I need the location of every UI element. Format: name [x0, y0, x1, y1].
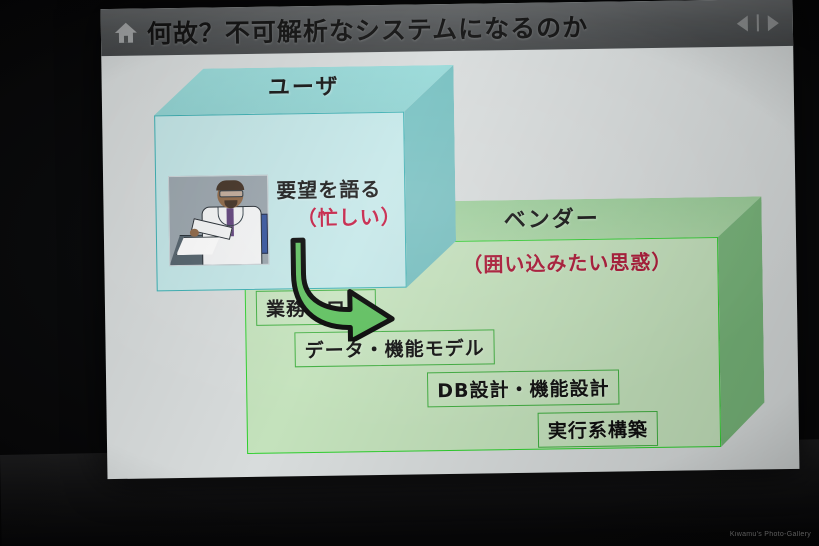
- arrow-left-icon[interactable]: [737, 15, 748, 31]
- doctor-at-desk-clipart: [168, 175, 269, 266]
- user-annotation: （忙しい）: [296, 201, 401, 232]
- user-box-label: ユーザ: [153, 67, 453, 103]
- vendor-box-label: ベンダー: [503, 201, 599, 234]
- watermark: Kiwamu's Photo-Gallery: [730, 531, 811, 538]
- user-box: 要望を語る （忙しい） ユーザ: [153, 65, 456, 291]
- vendor-box-annotation: （囲い込みたい思惑）: [462, 246, 672, 278]
- arrow-right-icon[interactable]: [768, 15, 779, 31]
- user-box-front-face: 要望を語る （忙しい）: [154, 112, 407, 292]
- user-statement: 要望を語る: [276, 173, 381, 204]
- photo-of-projected-slide: 何故？不可解析なシステムになるのか 業務フロー データ・機能モデル DB設計・機…: [0, 0, 819, 546]
- page-title: 何故？不可解析なシステムになるのか: [147, 7, 589, 50]
- slide-navigation: [737, 14, 779, 32]
- step-item: DB設計・機能設計: [427, 370, 620, 408]
- step-item: 実行系構築: [538, 411, 659, 448]
- home-icon[interactable]: [115, 22, 137, 42]
- slide-body: 業務フロー データ・機能モデル DB設計・機能設計 実行系構築 ベンダー （囲い…: [101, 46, 799, 479]
- curved-down-arrow-icon: [287, 233, 397, 343]
- nav-separator: [757, 14, 759, 31]
- projection-screen: 何故？不可解析なシステムになるのか 業務フロー データ・機能モデル DB設計・機…: [101, 0, 800, 479]
- vendor-box-side-face: [717, 196, 765, 447]
